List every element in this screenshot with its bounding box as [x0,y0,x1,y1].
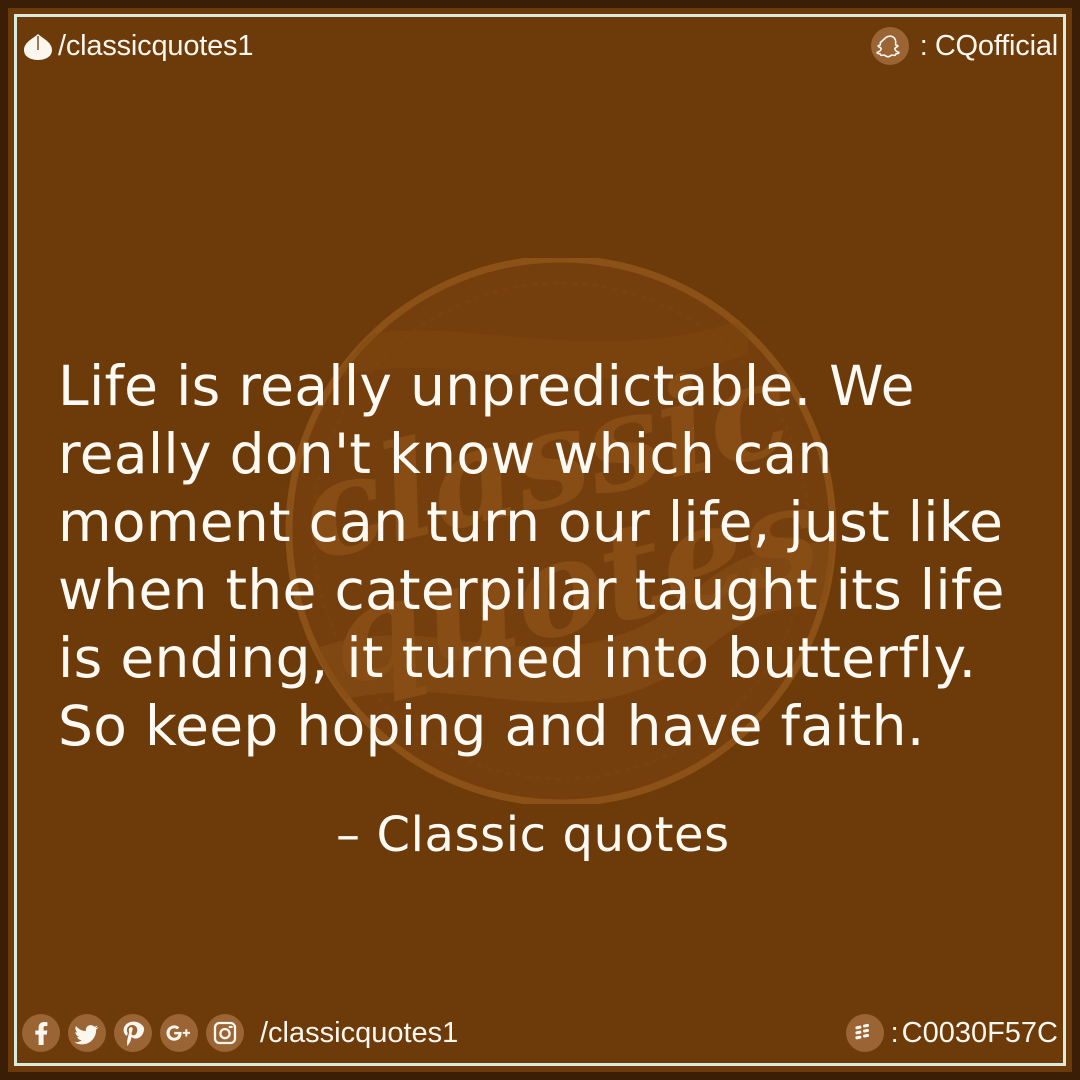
facebook-icon[interactable] [22,1014,60,1052]
instagram-icon[interactable] [206,1014,244,1052]
footer-right-group: : C0030F57C [846,1014,1058,1052]
header-bar: /classicquotes1 : CQofficial [22,20,1058,72]
footer-bar: /classicquotes1 : C0030F57C [22,1008,1058,1058]
bbm-pin[interactable]: C0030F57C [902,1019,1058,1048]
quote-attribution: – Classic quotes [336,806,730,864]
quote-image-canvas: classic quotes /classicquotes1 : CQoff [0,0,1080,1080]
footer-handle[interactable]: /classicquotes1 [260,1019,458,1048]
snapchat-icon[interactable] [871,27,909,65]
quote-text: Life is really unpredictable. We really … [58,352,1026,760]
quote-block: Life is really unpredictable. We really … [58,352,1026,760]
social-icon-row: /classicquotes1 [22,1014,458,1052]
header-handle[interactable]: /classicquotes1 [58,32,253,61]
pinterest-icon[interactable] [114,1014,152,1052]
header-left-group: /classicquotes1 [22,30,253,62]
header-right-group: : CQofficial [871,27,1058,65]
blackberry-messenger-icon[interactable] [846,1014,884,1052]
heart-icon [22,30,54,62]
footer-separator: : [891,1019,899,1048]
twitter-icon[interactable] [68,1014,106,1052]
header-snapchat-username[interactable]: CQofficial [935,32,1058,61]
googleplus-icon[interactable] [160,1014,198,1052]
header-separator: : [920,32,928,61]
